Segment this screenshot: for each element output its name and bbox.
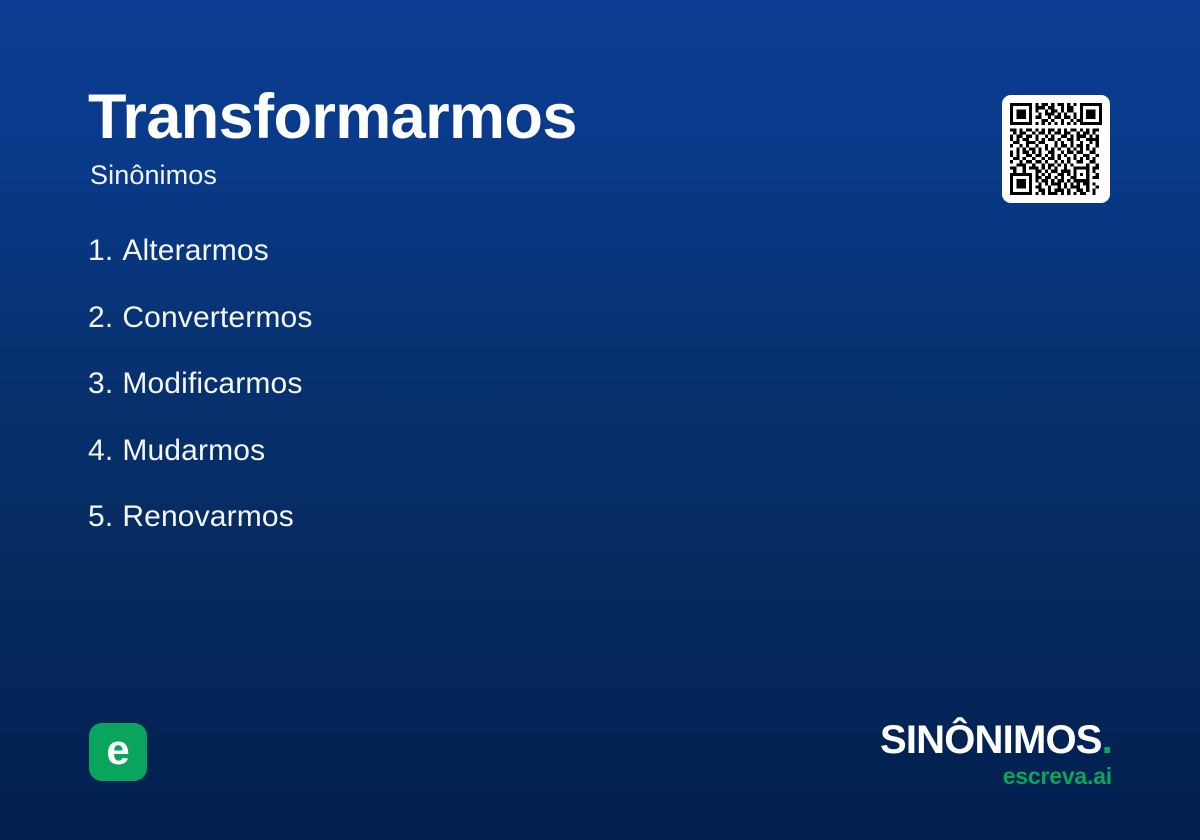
qr-code-icon [1010,103,1102,195]
list-item-index: 2. [88,303,113,333]
escreva-e-icon[interactable]: e [89,723,147,781]
synonym-list: 1. Alterarmos 2. Convertermos 3. Modific… [88,236,908,569]
list-item-label: Modificarmos [122,369,302,399]
list-item-index: 4. [88,436,113,466]
brand-dot: . [1102,718,1112,762]
list-item-label: Alterarmos [122,236,269,266]
brand-name: SINÔNIMOS. [852,720,1112,760]
page-subtitle: Sinônimos [90,161,948,191]
list-item-index: 5. [88,502,113,532]
list-item: 3. Modificarmos [88,369,908,436]
list-item-label: Mudarmos [122,436,265,466]
qr-code[interactable] [1002,95,1110,203]
synonym-card: Transformarmos Sinônimos 1. Alterarmos 2… [0,0,1200,840]
list-item: 4. Mudarmos [88,436,908,503]
brand-lockup: SINÔNIMOS. escreva.ai [852,720,1112,788]
list-item: 2. Convertermos [88,303,908,370]
list-item-label: Renovarmos [122,502,294,532]
list-item: 1. Alterarmos [88,236,908,303]
app-mark-letter: e [106,729,129,771]
page-title: Transformarmos [88,84,948,151]
brand-name-text: SINÔNIMOS [880,718,1102,762]
header: Transformarmos Sinônimos [88,84,948,190]
list-item-index: 1. [88,236,113,266]
brand-subtitle: escreva.ai [852,765,1112,788]
list-item-label: Convertermos [122,303,312,333]
list-item: 5. Renovarmos [88,502,908,569]
list-item-index: 3. [88,369,113,399]
